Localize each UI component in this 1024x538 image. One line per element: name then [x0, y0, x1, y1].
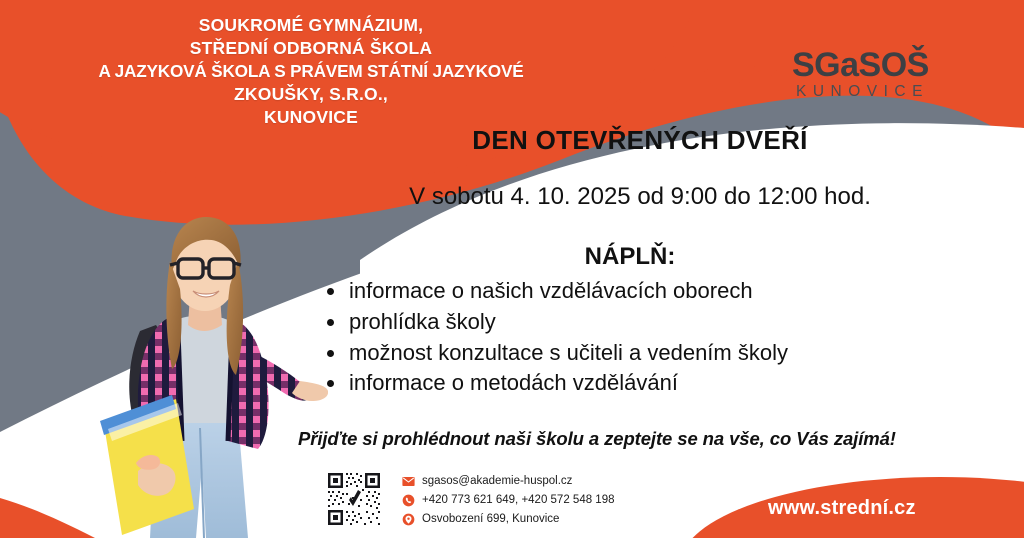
- logo-subtitle: KUNOVICE: [796, 84, 929, 100]
- eagle-icon: [700, 50, 795, 112]
- student-photo: [78, 213, 328, 538]
- list-item: informace o našich vzdělávacích oborech: [327, 276, 788, 307]
- contact-block: sgasos@akademie-huspol.cz +420 773 621 6…: [402, 473, 615, 530]
- contact-row-address[interactable]: Osvobození 699, Kunovice: [402, 511, 615, 528]
- list-item: prohlídka školy: [327, 307, 788, 338]
- program-heading: NÁPLŇ:: [420, 243, 840, 271]
- page-title: DEN OTEVŘENÝCH DVEŘÍ: [360, 125, 920, 156]
- poster-root: SOUKROMÉ GYMNÁZIUM, STŘEDNÍ ODBORNÁ ŠKOL…: [0, 0, 1024, 538]
- website-url[interactable]: www.strední.cz: [768, 497, 916, 520]
- school-name-line-3: A JAZYKOVÁ ŠKOLA S PRÁVEM STÁTNÍ JAZYKOV…: [96, 60, 526, 83]
- contact-phone: +420 773 621 649, +420 572 548 198: [422, 495, 615, 507]
- logo: SGaSOŠ KUNOVICE: [700, 46, 990, 116]
- phone-icon: [402, 494, 415, 507]
- school-name-line-2: STŘEDNÍ ODBORNÁ ŠKOLA: [96, 37, 526, 60]
- contact-row-phone[interactable]: +420 773 621 649, +420 572 548 198: [402, 492, 615, 509]
- school-name-line-4: ZKOUŠKY, S.R.O.,: [96, 83, 526, 106]
- program-list: informace o našich vzdělávacích oborech …: [305, 276, 788, 399]
- list-item: informace o metodách vzdělávání: [327, 368, 788, 399]
- school-name-block: SOUKROMÉ GYMNÁZIUM, STŘEDNÍ ODBORNÁ ŠKOL…: [96, 14, 526, 129]
- school-name-line-1: SOUKROMÉ GYMNÁZIUM,: [96, 14, 526, 37]
- list-item: možnost konzultace s učiteli a vedením š…: [327, 338, 788, 369]
- logo-wordmark: SGaSOŠ: [792, 48, 929, 82]
- location-pin-icon: [402, 513, 415, 526]
- contact-address: Osvobození 699, Kunovice: [422, 514, 559, 526]
- contact-email: sgasos@akademie-huspol.cz: [422, 476, 572, 488]
- envelope-icon: [402, 475, 415, 488]
- qr-code-icon[interactable]: [325, 470, 383, 528]
- contact-row-email[interactable]: sgasos@akademie-huspol.cz: [402, 473, 615, 490]
- invitation-tagline: Přijďte si prohlédnout naši školu a zept…: [298, 428, 970, 450]
- event-datetime: V sobotu 4. 10. 2025 od 9:00 do 12:00 ho…: [330, 183, 950, 211]
